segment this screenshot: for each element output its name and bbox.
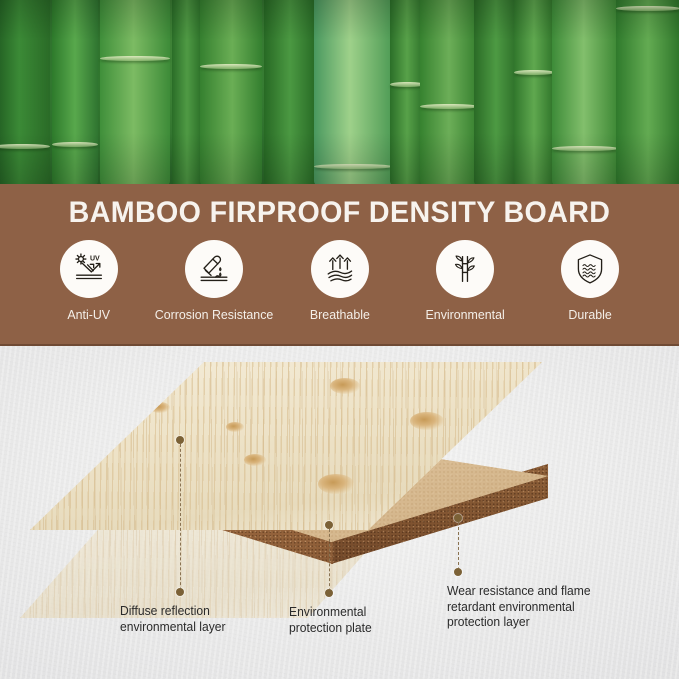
feature-list: UV Anti-UV [0,240,679,322]
callout-dot [176,436,184,444]
feature-item-environmental[interactable]: Environmental [406,240,524,322]
callout-caption: Environmental protection plate [289,605,372,636]
callout-caption: Diffuse reflection environmental layer [120,604,226,635]
callout-line [458,522,459,570]
feature-label: Anti-UV [68,307,111,322]
callout-dot [325,589,333,597]
caption-line: protection layer [447,615,591,631]
caption-line: environmental layer [120,620,226,636]
callout-line [329,529,330,591]
callout-caption: Wear resistance and flame retardant envi… [447,584,591,631]
feature-banner: BAMBOO FIRPROOF DENSITY BOARD UV [0,184,679,346]
hero-vignette [0,0,679,184]
top-veneer-sheet [30,362,542,530]
product-diagram: Diffuse reflection environmental layer E… [0,346,679,679]
callout-line [180,444,181,590]
uv-sun-reflect-icon: UV [60,240,118,298]
bamboo-stalk-leaves-icon [436,240,494,298]
callout-dot [454,514,462,522]
callout-dot [454,568,462,576]
feature-label: Corrosion Resistance [155,307,274,322]
svg-text:UV: UV [90,255,100,262]
caption-line: Diffuse reflection [120,604,226,620]
caption-line: retardant environmental [447,600,591,616]
bamboo-hero-image [0,0,679,184]
caption-line: Environmental [289,605,372,621]
feature-item-anti-uv[interactable]: UV Anti-UV [30,240,148,322]
feature-item-breathable[interactable]: Breathable [281,240,399,322]
veneer-grain [30,362,542,530]
feature-item-durable[interactable]: Durable [531,240,649,322]
feature-label: Environmental [425,307,504,322]
callout-dot [176,588,184,596]
feature-label: Durable [568,307,611,322]
caption-line: Wear resistance and flame [447,584,591,600]
page-title: BAMBOO FIRPROOF DENSITY BOARD [10,196,669,230]
shield-mesh-icon [561,240,619,298]
feature-label: Breathable [310,307,370,322]
feature-item-corrosion-resistance[interactable]: Corrosion Resistance [155,240,273,322]
callout-dot [325,521,333,529]
arrows-up-waves-icon [311,240,369,298]
product-infographic: BAMBOO FIRPROOF DENSITY BOARD UV [0,0,679,679]
test-tube-drip-icon [185,240,243,298]
caption-line: protection plate [289,621,372,637]
